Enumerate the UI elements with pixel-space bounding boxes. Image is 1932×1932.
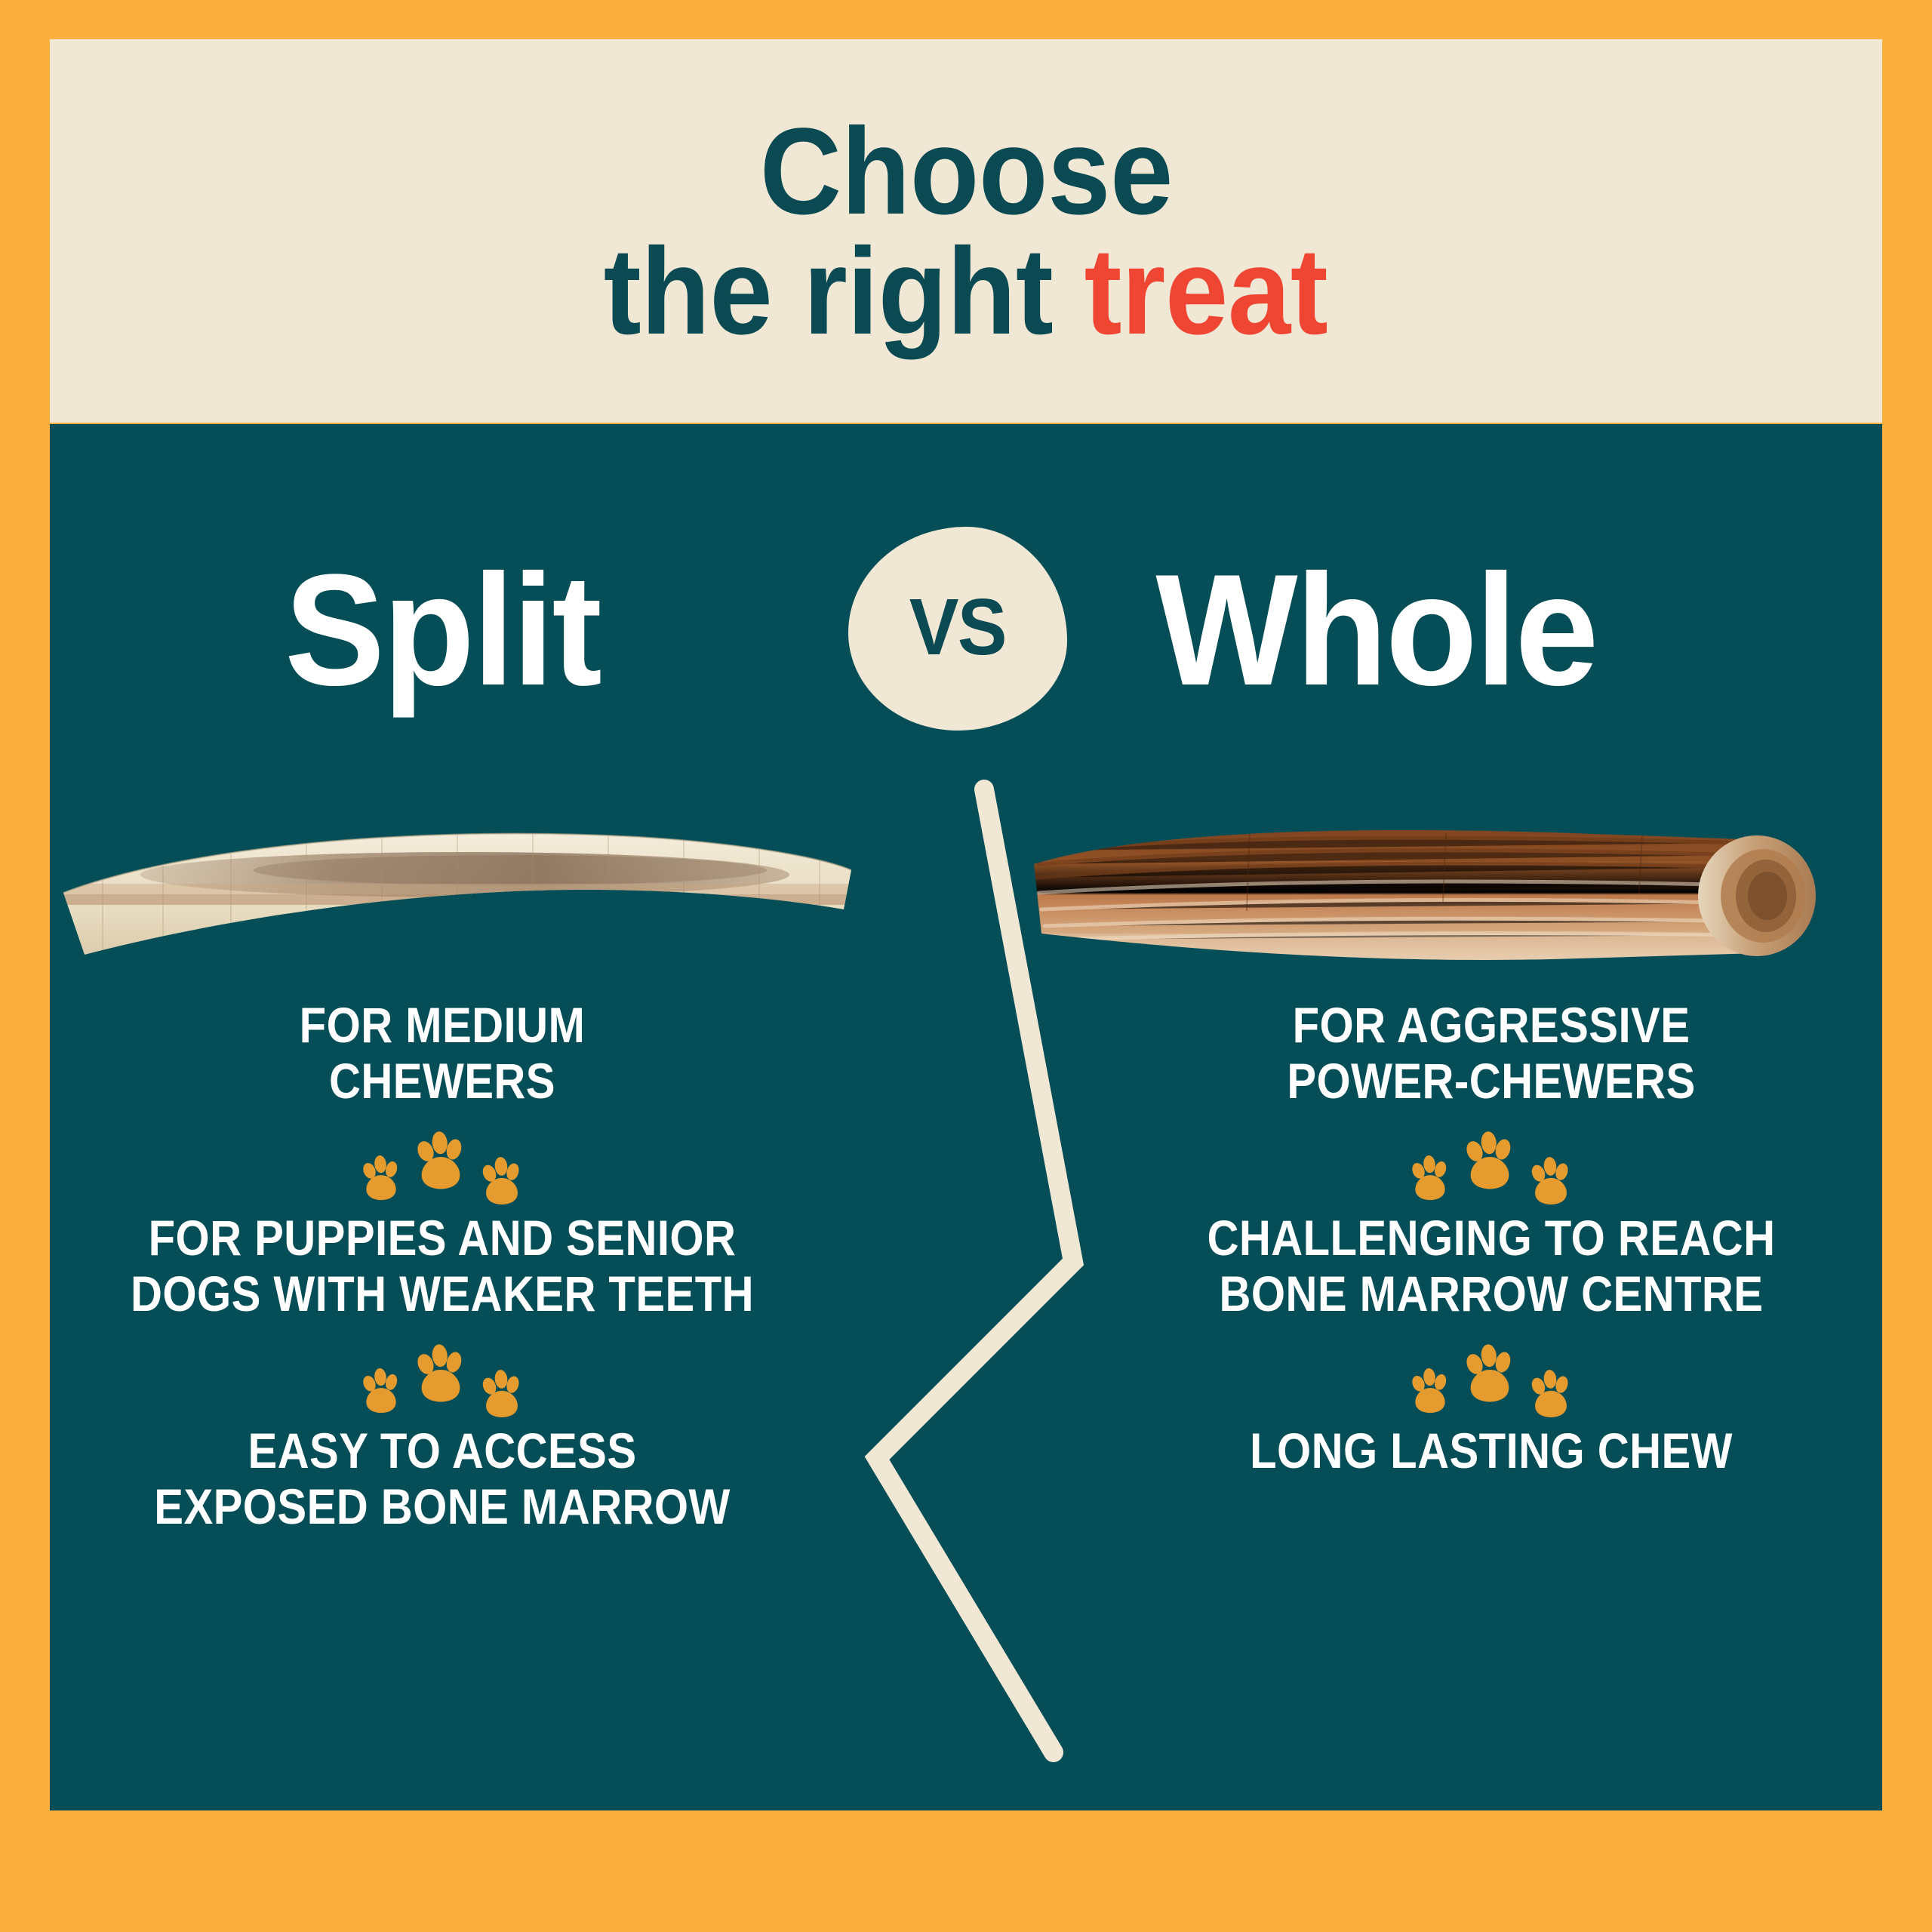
paw-print-icon <box>1460 1343 1520 1404</box>
paw-divider-3 <box>1121 1121 1861 1203</box>
paw-print-icon <box>1526 1156 1576 1206</box>
whole-antler-photo <box>1023 820 1823 971</box>
headline-line-2-prefix: the right <box>604 222 1084 360</box>
whole-feature-3: LONG LASTING CHEW <box>1166 1423 1817 1479</box>
feature-column-split: FOR MEDIUM CHEWERS <box>72 998 812 1534</box>
paw-print-icon <box>1407 1367 1454 1414</box>
vs-badge: VS <box>848 527 1067 731</box>
split-feature-2: FOR PUPPIES AND SENIOR DOGS WITH WEAKER … <box>117 1211 768 1322</box>
paw-divider-2 <box>72 1334 812 1416</box>
split-feature-3: EASY TO ACCESS EXPOSED BONE MARROW <box>117 1423 768 1535</box>
paw-print-icon <box>411 1131 471 1191</box>
left-product-title: Split <box>285 536 600 724</box>
right-product-title: Whole <box>1155 536 1596 724</box>
vs-badge-label: VS <box>909 587 1006 667</box>
feature-column-whole: FOR AGGRESSIVE POWER-CHEWERS <box>1121 998 1861 1479</box>
split-feature-1: FOR MEDIUM CHEWERS <box>117 998 768 1109</box>
paw-print-icon <box>1526 1369 1576 1419</box>
paw-print-icon <box>1460 1131 1520 1191</box>
whole-feature-1: FOR AGGRESSIVE POWER-CHEWERS <box>1166 998 1817 1109</box>
paw-print-icon <box>477 1156 527 1206</box>
headline-line-1: Choose <box>759 113 1172 229</box>
whole-feature-2: CHALLENGING TO REACH BONE MARROW CENTRE <box>1166 1211 1817 1322</box>
paw-divider-4 <box>1121 1334 1861 1416</box>
split-antler-photo <box>57 820 857 986</box>
poster-canvas: Choose the right treat Split VS Whole <box>0 0 1932 1932</box>
paw-print-icon <box>358 1367 405 1414</box>
paw-print-icon <box>1407 1155 1454 1201</box>
paw-print-icon <box>411 1343 471 1404</box>
header-band: Choose the right treat <box>50 39 1882 423</box>
paw-divider-1 <box>72 1121 812 1203</box>
comparison-panel: Split VS Whole <box>50 424 1882 1810</box>
headline-line-2: the right treat <box>604 233 1328 349</box>
compare-heading-row: Split VS Whole <box>50 536 1882 732</box>
paw-print-icon <box>477 1369 527 1419</box>
paw-print-icon <box>358 1155 405 1201</box>
headline-accent-word: treat <box>1084 222 1328 360</box>
